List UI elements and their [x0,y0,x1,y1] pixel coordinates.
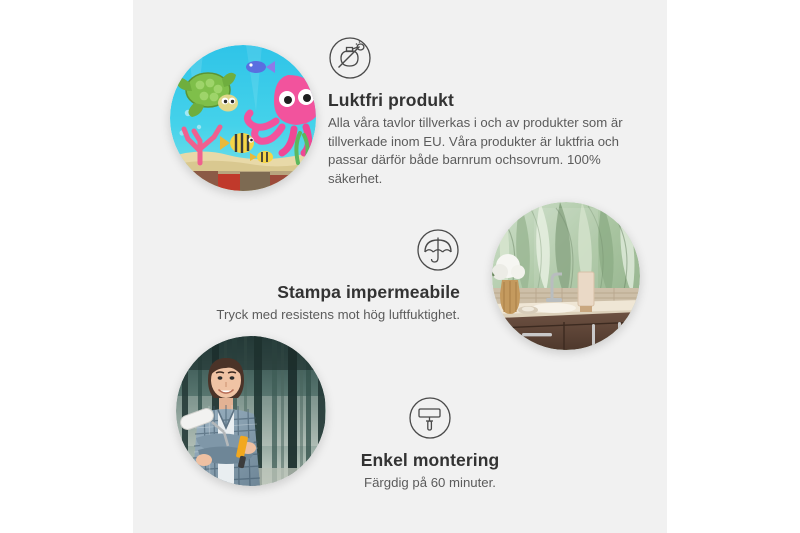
feature-body: Färgdig på 60 minuter. [300,474,560,493]
photo-bathroom-vanity [492,202,640,350]
photo-underwater-cartoon [170,45,316,191]
feature-title: Stampa impermeabile [160,282,460,304]
feature-title: Enkel montering [300,450,560,472]
feature-block-easy-mounting: Enkel montering Färgdig på 60 minuter. [300,396,560,493]
no-fragrance-icon [328,36,372,80]
feature-body: Tryck med resistens mot hög luftfuktighe… [160,306,460,325]
icon-wrap-odour-free [328,36,628,85]
umbrella-icon [416,228,460,272]
feature-title: Luktfri produkt [328,90,628,112]
feature-body: Alla våra tavlor tillverkas i och av pro… [328,114,628,189]
icon-wrap-waterproof [160,228,460,277]
paint-roller-icon [408,396,452,440]
icon-wrap-easy-mounting [300,396,560,445]
product-feature-banner: Luktfri produkt Alla våra tavlor tillver… [0,0,800,533]
feature-block-odour-free: Luktfri produkt Alla våra tavlor tillver… [328,36,628,189]
feature-block-waterproof: Stampa impermeabile Tryck med resistens … [160,228,460,325]
